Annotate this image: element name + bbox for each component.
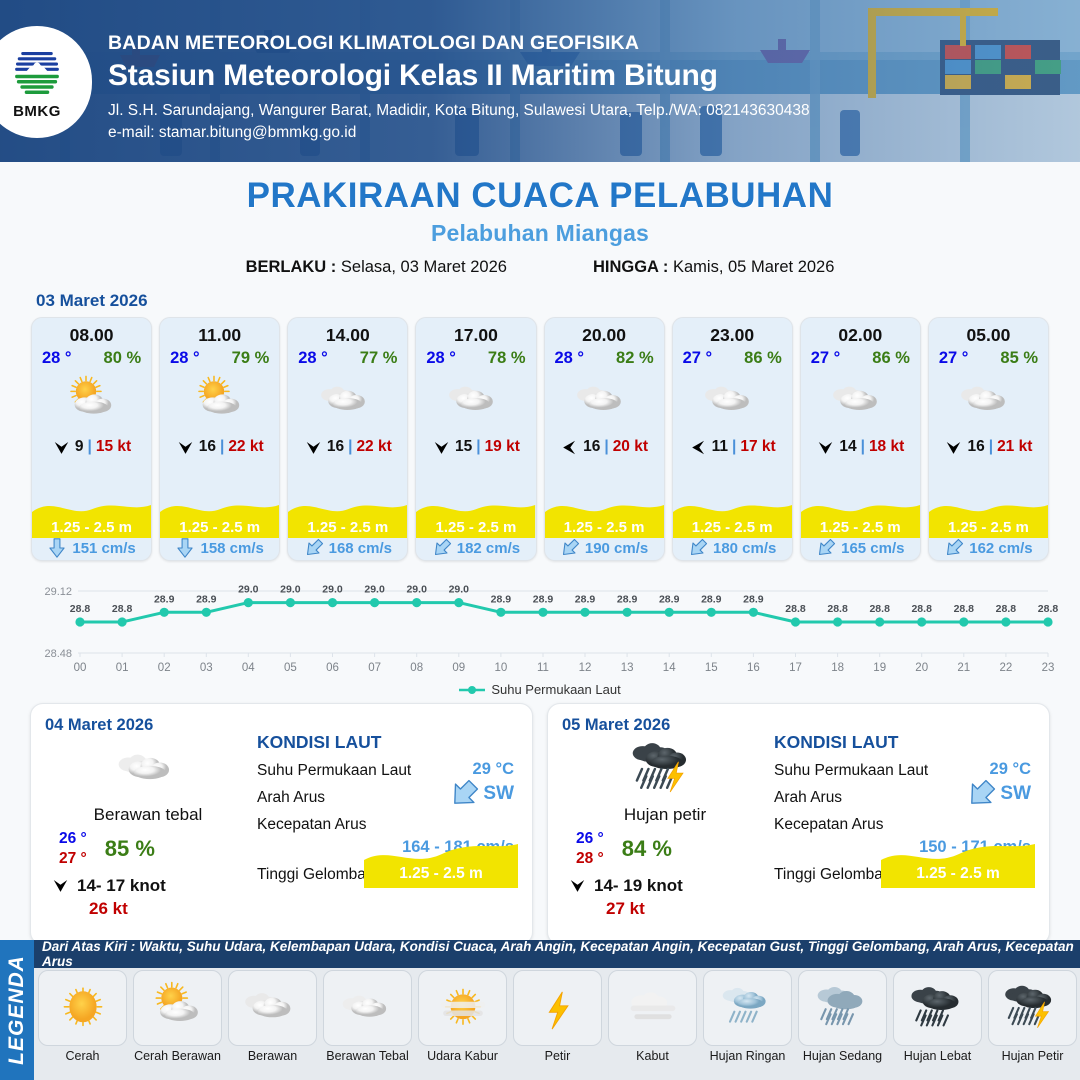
svg-text:29.0: 29.0 [364, 584, 385, 596]
svg-text:28.9: 28.9 [196, 593, 217, 605]
card-time: 08.00 [32, 318, 151, 346]
station-email: e-mail: stamar.bitung@bmmkg.go.id [108, 122, 810, 144]
current-direction-arrow-down-left-icon [560, 537, 580, 559]
svg-text:23: 23 [1042, 662, 1055, 674]
svg-text:19: 19 [873, 662, 886, 674]
legenda-item: Cerah Berawan [133, 970, 222, 1063]
wave-height-value: 1.25 - 2.5 m [881, 865, 1035, 883]
legenda-side-bar: LEGENDA [0, 940, 34, 1080]
legenda-item-label: Udara Kabur [418, 1049, 507, 1063]
wind-direction-arrow-left-icon [560, 438, 579, 457]
legenda-item-label: Kabut [608, 1049, 697, 1063]
legenda-item-label: Cerah [38, 1049, 127, 1063]
card-wind: 16 | 22 kt [160, 436, 279, 458]
card-temperature: 28 ° [426, 349, 456, 368]
card-humidity: 79 % [232, 349, 270, 368]
wind-direction-arrow-down-icon [51, 876, 70, 895]
card-time: 14.00 [288, 318, 407, 346]
card-wind: 15 | 19 kt [416, 436, 535, 458]
svg-text:28.8: 28.8 [954, 603, 975, 615]
current-direction-value: SW [1000, 783, 1031, 805]
card-weather-icon [801, 370, 920, 432]
card-current-speed: 168 cm/s [329, 540, 392, 557]
valid-from: BERLAKU : Selasa, 03 Maret 2026 [246, 258, 507, 277]
daily-wind-range: 14- 17 knot [77, 876, 166, 896]
svg-text:28.8: 28.8 [869, 603, 890, 615]
svg-text:09: 09 [452, 662, 465, 674]
daily-weather-icon [562, 737, 768, 801]
card-weather-icon [929, 370, 1048, 432]
card-wind-separator: | [604, 438, 608, 456]
card-wave-height: 1.25 - 2.5 m [929, 519, 1048, 536]
legenda-side-label: LEGENDA [5, 955, 29, 1065]
card-temperature: 28 ° [170, 349, 200, 368]
hourly-card: 02.00 27 ° 86 % [800, 317, 921, 561]
card-temp-humidity: 28 ° 78 % [416, 346, 535, 368]
card-wave-height: 1.25 - 2.5 m [160, 519, 279, 536]
card-time: 11.00 [160, 318, 279, 346]
wind-direction-arrow-down-icon [816, 438, 835, 457]
current-direction-value-group: SW [447, 779, 514, 809]
legenda-section: LEGENDA Dari Atas Kiri : Waktu, Suhu Uda… [0, 940, 1080, 1080]
card-current-speed: 151 cm/s [72, 540, 135, 557]
daily-gust: 27 kt [562, 899, 768, 919]
kabut-icon [622, 977, 684, 1039]
card-wind: 9 | 15 kt [32, 436, 151, 458]
legenda-items: Cerah Cerah Berawan [38, 970, 1078, 1063]
sst-value: 29 °C [473, 760, 514, 779]
card-humidity: 77 % [360, 349, 398, 368]
card-humidity: 86 % [872, 349, 910, 368]
hujan-ringan-icon [717, 977, 779, 1039]
current-direction-arrow-down-left-icon [944, 537, 964, 559]
svg-text:08: 08 [410, 662, 423, 674]
svg-text:28.8: 28.8 [70, 603, 91, 615]
hourly-card: 17.00 28 ° 78 % [415, 317, 536, 561]
daily-condition: Hujan petir [562, 805, 768, 825]
wind-direction-arrow-down-icon [176, 438, 195, 457]
card-gust: 19 kt [485, 438, 520, 456]
card-current: 182 cm/s [416, 536, 535, 560]
card-current: 180 cm/s [673, 536, 792, 560]
current-direction-row: Arah Arus SW [257, 789, 518, 807]
agency-name: BADAN METEOROLOGI KLIMATOLOGI DAN GEOFIS… [108, 32, 810, 54]
card-temp-humidity: 28 ° 77 % [288, 346, 407, 368]
svg-text:28.9: 28.9 [154, 593, 175, 605]
card-gust: 15 kt [96, 438, 131, 456]
berawan-tebal-icon [337, 977, 399, 1039]
card-wave-height: 1.25 - 2.5 m [32, 519, 151, 536]
card-temperature: 27 ° [811, 349, 841, 368]
daily-wind-range: 14- 19 knot [594, 876, 683, 896]
legenda-item-icon-box [703, 970, 792, 1046]
svg-text:29.0: 29.0 [280, 584, 301, 596]
sea-condition-title: KONDISI LAUT [774, 732, 1035, 753]
daily-temp-column: 26 ° 27 ° [59, 829, 87, 869]
wind-direction-arrow-down-icon [304, 438, 323, 457]
berawan-icon [702, 371, 762, 431]
card-weather-icon [288, 370, 407, 432]
legenda-item: Udara Kabur [418, 970, 507, 1063]
daily-card: 04 Maret 2026 [30, 703, 533, 945]
hujan-petir-icon [1002, 977, 1064, 1039]
svg-text:28.9: 28.9 [491, 593, 512, 605]
card-temp-humidity: 27 ° 86 % [673, 346, 792, 368]
page-title: PRAKIRAAN CUACA PELABUHAN [0, 176, 1080, 216]
daily-temp-min: 26 ° [59, 829, 87, 849]
wave-height-badge: 1.25 - 2.5 m [881, 842, 1035, 888]
card-wave-block: 1.25 - 2.5 m 180 cm/s [673, 502, 792, 560]
current-direction-arrow-sw-icon [447, 779, 481, 809]
svg-text:18: 18 [831, 662, 844, 674]
legenda-item: Hujan Ringan [703, 970, 792, 1063]
current-direction-value: SW [483, 783, 514, 805]
legenda-note: Dari Atas Kiri : Waktu, Suhu Udara, Kele… [34, 940, 1080, 968]
svg-text:04: 04 [242, 662, 255, 674]
svg-text:29.0: 29.0 [449, 584, 470, 596]
legenda-item-icon-box [38, 970, 127, 1046]
card-temperature: 28 ° [298, 349, 328, 368]
svg-text:17: 17 [789, 662, 802, 674]
card-time: 02.00 [801, 318, 920, 346]
legenda-item: Petir [513, 970, 602, 1063]
card-temperature: 27 ° [939, 349, 969, 368]
svg-text:28.8: 28.8 [996, 603, 1017, 615]
svg-text:03: 03 [200, 662, 213, 674]
card-wind-separator: | [220, 438, 224, 456]
daily-wind: 14- 17 knot [45, 876, 251, 896]
sst-chart: 29.1228.4828.80028.80128.90228.90329.004… [18, 573, 1062, 681]
hujan-lebat-icon [907, 977, 969, 1039]
legenda-item-label: Petir [513, 1049, 602, 1063]
card-wind: 16 | 21 kt [929, 436, 1048, 458]
card-wind-separator: | [732, 438, 736, 456]
cerah-icon [52, 977, 114, 1039]
card-wind-separator: | [989, 438, 993, 456]
legenda-item-label: Hujan Ringan [703, 1049, 792, 1063]
current-direction-arrow-down-left-icon [432, 537, 452, 559]
card-wave-height: 1.25 - 2.5 m [801, 519, 920, 536]
title-block: PRAKIRAAN CUACA PELABUHAN Pelabuhan Mian… [0, 176, 1080, 277]
page-subtitle: Pelabuhan Miangas [0, 220, 1080, 247]
daily-humidity: 85 % [105, 836, 155, 862]
svg-text:07: 07 [368, 662, 381, 674]
card-time: 23.00 [673, 318, 792, 346]
card-wave-block: 1.25 - 2.5 m 158 cm/s [160, 502, 279, 560]
legend-marker-icon [459, 685, 485, 695]
hourly-card: 08.00 28 ° 80 % [31, 317, 152, 561]
card-weather-icon [673, 370, 792, 432]
legenda-item: Hujan Lebat [893, 970, 982, 1063]
card-current: 162 cm/s [929, 536, 1048, 560]
card-wind: 11 | 17 kt [673, 436, 792, 458]
berawan-icon [958, 371, 1018, 431]
wave-height-row: Tinggi Gelombang 1.25 - 2.5 m [774, 866, 1035, 884]
hourly-card: 23.00 27 ° 86 % [672, 317, 793, 561]
sst-chart-svg: 29.1228.4828.80028.80128.90228.90329.004… [18, 573, 1062, 681]
svg-text:28.8: 28.8 [827, 603, 848, 615]
card-wave-block: 1.25 - 2.5 m 151 cm/s [32, 502, 151, 560]
card-wave-block: 1.25 - 2.5 m 165 cm/s [801, 502, 920, 560]
svg-text:28.9: 28.9 [575, 593, 596, 605]
hourly-card: 05.00 27 ° 85 % [928, 317, 1049, 561]
hourly-date-label: 03 Maret 2026 [36, 291, 1080, 311]
legenda-item-label: Berawan [228, 1049, 317, 1063]
legenda-item-label: Hujan Lebat [893, 1049, 982, 1063]
card-wind-speed: 16 [967, 438, 984, 456]
card-current: 158 cm/s [160, 536, 279, 560]
daily-forecast-row: 04 Maret 2026 [0, 697, 1080, 945]
legenda-item: Berawan [228, 970, 317, 1063]
daily-gust: 26 kt [45, 899, 251, 919]
legenda-item-icon-box [513, 970, 602, 1046]
hourly-card: 14.00 28 ° 77 % [287, 317, 408, 561]
sea-condition-title: KONDISI LAUT [257, 732, 518, 753]
daily-temp-max: 28 ° [576, 849, 604, 869]
berawan-icon [446, 371, 506, 431]
daily-card-right: KONDISI LAUT Suhu Permukaan Laut 29 °C A… [768, 716, 1035, 932]
card-weather-icon [160, 370, 279, 432]
svg-text:29.0: 29.0 [406, 584, 427, 596]
svg-text:29.0: 29.0 [238, 584, 259, 596]
svg-text:05: 05 [284, 662, 297, 674]
card-wind-speed: 15 [455, 438, 472, 456]
card-wind-speed: 16 [583, 438, 600, 456]
daily-temp-column: 26 ° 28 ° [576, 829, 604, 869]
svg-text:28.9: 28.9 [533, 593, 554, 605]
svg-text:12: 12 [579, 662, 592, 674]
legenda-item: Cerah [38, 970, 127, 1063]
legenda-item-icon-box [228, 970, 317, 1046]
legenda-item-icon-box [323, 970, 412, 1046]
daily-temp-max: 27 ° [59, 849, 87, 869]
card-wave-height: 1.25 - 2.5 m [288, 519, 407, 536]
hourly-forecast-row: 08.00 28 ° 80 % [0, 317, 1080, 561]
current-direction-arrow-sw-icon [964, 779, 998, 809]
card-temp-humidity: 28 ° 80 % [32, 346, 151, 368]
valid-to: HINGGA : Kamis, 05 Maret 2026 [593, 258, 834, 277]
card-current-speed: 158 cm/s [200, 540, 263, 557]
svg-text:28.8: 28.8 [911, 603, 932, 615]
card-humidity: 78 % [488, 349, 526, 368]
card-time: 05.00 [929, 318, 1048, 346]
svg-text:15: 15 [705, 662, 718, 674]
card-current: 165 cm/s [801, 536, 920, 560]
card-wind-speed: 16 [199, 438, 216, 456]
card-current: 190 cm/s [545, 536, 664, 560]
current-direction-arrow-down-left-icon [304, 537, 324, 559]
card-temp-humidity: 27 ° 85 % [929, 346, 1048, 368]
card-current-speed: 182 cm/s [457, 540, 520, 557]
wind-direction-arrow-down-icon [568, 876, 587, 895]
svg-text:16: 16 [747, 662, 760, 674]
svg-text:28.9: 28.9 [617, 593, 638, 605]
svg-text:13: 13 [621, 662, 634, 674]
valid-to-label: HINGGA : [593, 258, 668, 276]
svg-text:06: 06 [326, 662, 339, 674]
legenda-item-icon-box [988, 970, 1077, 1046]
card-wave-block: 1.25 - 2.5 m 182 cm/s [416, 502, 535, 560]
valid-from-label: BERLAKU : [246, 258, 337, 276]
card-wind-separator: | [861, 438, 865, 456]
current-direction-arrow-down-left-icon [688, 537, 708, 559]
wave-height-row: Tinggi Gelombang 1.25 - 2.5 m [257, 866, 518, 884]
card-wave-block: 1.25 - 2.5 m 190 cm/s [545, 502, 664, 560]
valid-to-value: Kamis, 05 Maret 2026 [673, 258, 834, 276]
card-weather-icon [32, 370, 151, 432]
sst-row: Suhu Permukaan Laut 29 °C [257, 762, 518, 780]
card-temp-humidity: 27 ° 86 % [801, 346, 920, 368]
card-time: 17.00 [416, 318, 535, 346]
card-wind-separator: | [476, 438, 480, 456]
card-humidity: 80 % [104, 349, 142, 368]
udara-kabur-icon [432, 977, 494, 1039]
card-current-speed: 180 cm/s [713, 540, 776, 557]
hourly-card: 11.00 28 ° 79 % [159, 317, 280, 561]
legenda-item-label: Cerah Berawan [133, 1049, 222, 1063]
card-wind-speed: 9 [75, 438, 84, 456]
card-wind-separator: | [348, 438, 352, 456]
berawan-icon [574, 371, 634, 431]
svg-text:02: 02 [158, 662, 171, 674]
svg-text:28.9: 28.9 [743, 593, 764, 605]
card-gust: 18 kt [869, 438, 904, 456]
cerah-berawan-icon [190, 371, 250, 431]
legenda-item: Kabut [608, 970, 697, 1063]
current-direction-arrow-down-icon [47, 537, 67, 559]
berawan-tebal-icon [112, 733, 184, 805]
card-weather-icon [545, 370, 664, 432]
card-current-speed: 162 cm/s [969, 540, 1032, 557]
current-direction-arrow-down-left-icon [816, 537, 836, 559]
legenda-item-icon-box [133, 970, 222, 1046]
card-humidity: 82 % [616, 349, 654, 368]
daily-card-left: 05 Maret 2026 [562, 716, 768, 932]
current-speed-label: Kecepatan Arus [774, 816, 1035, 834]
svg-text:10: 10 [495, 662, 508, 674]
card-temperature: 28 ° [42, 349, 72, 368]
card-wave-height: 1.25 - 2.5 m [545, 519, 664, 536]
current-direction-arrow-down-icon [175, 537, 195, 559]
wind-direction-arrow-down-icon [432, 438, 451, 457]
card-temperature: 27 ° [683, 349, 713, 368]
card-current: 168 cm/s [288, 536, 407, 560]
legenda-item-icon-box [893, 970, 982, 1046]
station-name: Stasiun Meteorologi Kelas II Maritim Bit… [108, 57, 810, 95]
hujan-sedang-icon [812, 977, 874, 1039]
wave-height-badge: 1.25 - 2.5 m [364, 842, 518, 888]
svg-text:21: 21 [957, 662, 970, 674]
card-gust: 22 kt [228, 438, 263, 456]
daily-card-left: 04 Maret 2026 [45, 716, 251, 932]
sst-value: 29 °C [990, 760, 1031, 779]
card-wind-speed: 14 [839, 438, 856, 456]
card-wave-height: 1.25 - 2.5 m [673, 519, 792, 536]
daily-card: 05 Maret 2026 [547, 703, 1050, 945]
daily-temp-humidity: 26 ° 27 ° 85 % [45, 829, 251, 869]
legenda-item-label: Hujan Petir [988, 1049, 1077, 1063]
card-temperature: 28 ° [555, 349, 585, 368]
card-current-speed: 190 cm/s [585, 540, 648, 557]
current-speed-label: Kecepatan Arus [257, 816, 518, 834]
logo-label: BMKG [13, 103, 61, 120]
hujan-petir-icon [629, 733, 701, 805]
legenda-item-label: Hujan Sedang [798, 1049, 887, 1063]
sst-chart-legend: Suhu Permukaan Laut [0, 682, 1080, 697]
cerah-berawan-icon [62, 371, 122, 431]
svg-text:20: 20 [915, 662, 928, 674]
daily-temp-min: 26 ° [576, 829, 604, 849]
daily-weather-icon [45, 737, 251, 801]
svg-text:11: 11 [537, 662, 549, 674]
svg-text:28.9: 28.9 [659, 593, 680, 605]
legenda-item: Berawan Tebal [323, 970, 412, 1063]
page-header: BMKG BADAN METEOROLOGI KLIMATOLOGI DAN G… [0, 0, 1080, 162]
card-gust: 17 kt [740, 438, 775, 456]
card-current: 151 cm/s [32, 536, 151, 560]
legenda-item: Hujan Petir [988, 970, 1077, 1063]
daily-humidity: 84 % [622, 836, 672, 862]
cerah-berawan-icon [147, 977, 209, 1039]
current-direction-value-group: SW [964, 779, 1031, 809]
card-temp-humidity: 28 ° 82 % [545, 346, 664, 368]
berawan-icon [242, 977, 304, 1039]
card-gust: 21 kt [997, 438, 1032, 456]
svg-text:28.8: 28.8 [785, 603, 806, 615]
card-gust: 20 kt [613, 438, 648, 456]
wind-direction-arrow-down-icon [944, 438, 963, 457]
svg-text:29.12: 29.12 [44, 586, 72, 598]
card-time: 20.00 [545, 318, 664, 346]
berawan-icon [830, 371, 890, 431]
sst-row: Suhu Permukaan Laut 29 °C [774, 762, 1035, 780]
svg-text:00: 00 [74, 662, 87, 674]
card-wind-separator: | [88, 438, 92, 456]
current-direction-row: Arah Arus SW [774, 789, 1035, 807]
valid-from-value: Selasa, 03 Maret 2026 [341, 258, 507, 276]
wind-direction-arrow-down-icon [52, 438, 71, 457]
card-humidity: 85 % [1000, 349, 1038, 368]
svg-text:14: 14 [663, 662, 676, 674]
berawan-icon [318, 371, 378, 431]
daily-condition: Berawan tebal [45, 805, 251, 825]
card-wave-height: 1.25 - 2.5 m [416, 519, 535, 536]
daily-wind: 14- 19 knot [562, 876, 768, 896]
svg-text:28.48: 28.48 [44, 648, 72, 660]
card-temp-humidity: 28 ° 79 % [160, 346, 279, 368]
card-current-speed: 165 cm/s [841, 540, 904, 557]
legenda-item-label: Berawan Tebal [323, 1049, 412, 1063]
legenda-item-icon-box [608, 970, 697, 1046]
card-wind-speed: 11 [712, 438, 728, 456]
card-weather-icon [416, 370, 535, 432]
card-wind: 16 | 22 kt [288, 436, 407, 458]
card-wind: 14 | 18 kt [801, 436, 920, 458]
wind-direction-arrow-left-icon [689, 438, 708, 457]
svg-text:29.0: 29.0 [322, 584, 343, 596]
legenda-item-icon-box [418, 970, 507, 1046]
card-wind-speed: 16 [327, 438, 344, 456]
card-wave-block: 1.25 - 2.5 m 162 cm/s [929, 502, 1048, 560]
legenda-item: Hujan Sedang [798, 970, 887, 1063]
card-humidity: 86 % [744, 349, 782, 368]
wave-height-value: 1.25 - 2.5 m [364, 865, 518, 883]
daily-temp-humidity: 26 ° 28 ° 84 % [562, 829, 768, 869]
petir-icon [527, 977, 589, 1039]
card-gust: 22 kt [356, 438, 391, 456]
bmkg-emblem-icon [9, 45, 65, 101]
header-text-block: BADAN METEOROLOGI KLIMATOLOGI DAN GEOFIS… [108, 32, 810, 145]
